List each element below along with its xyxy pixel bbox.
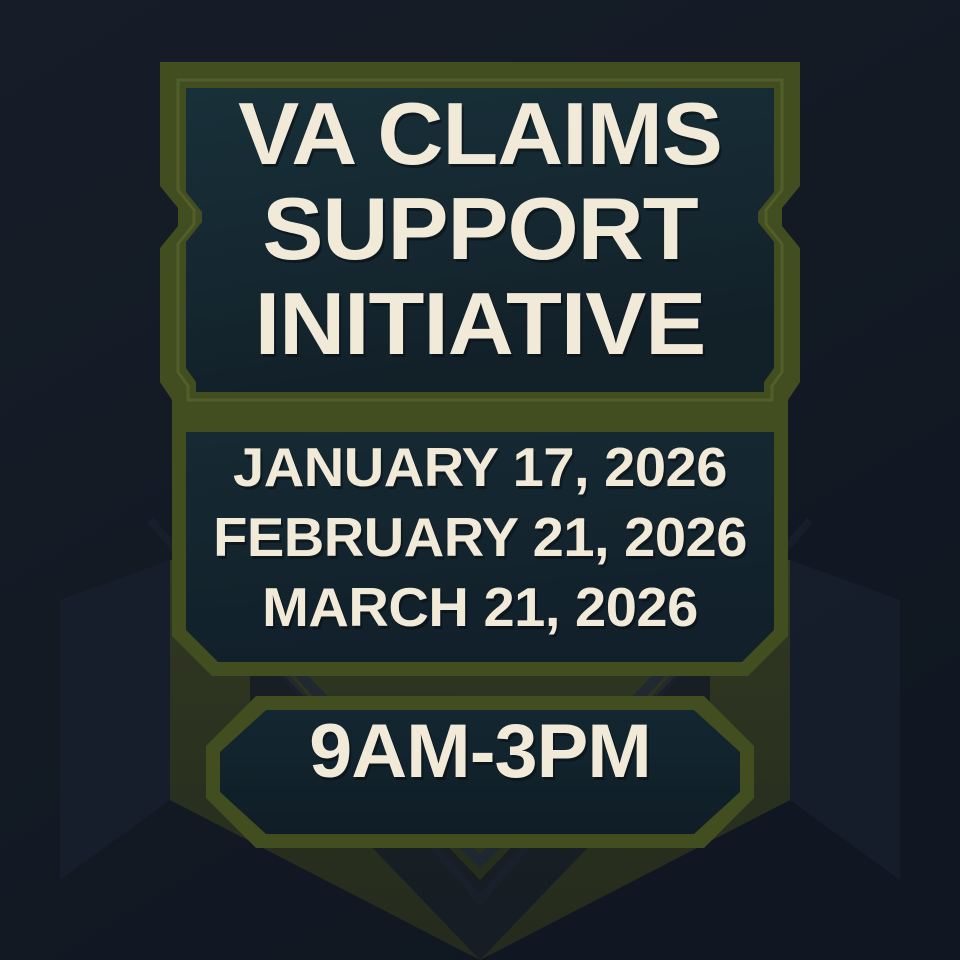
dates-panel-group [172,418,788,676]
dates-panel-interior [186,432,774,662]
title-panel-interior [186,88,774,392]
title-panel-group [160,62,800,418]
hours-banner-group [206,696,754,848]
poster-canvas: VA CLAIMS SUPPORT INITIATIVE JANUARY 17,… [0,0,960,960]
badge-frame [0,0,960,960]
hours-banner-interior [220,710,740,834]
